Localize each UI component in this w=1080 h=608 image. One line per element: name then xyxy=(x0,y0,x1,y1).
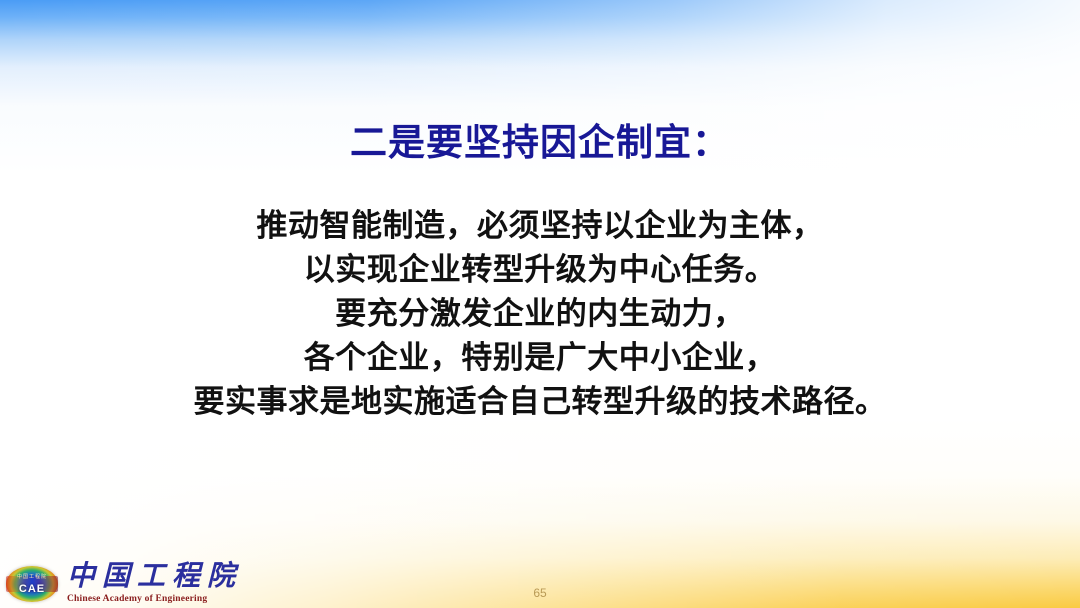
slide-title: 二是要坚持因企制宜： xyxy=(0,122,1080,165)
slide-content: 二是要坚持因企制宜： 推动智能制造，必须坚持以企业为主体， 以实现企业转型升级为… xyxy=(0,0,1080,608)
body-line-2: 以实现企业转型升级为中心任务。 xyxy=(0,248,1080,292)
emblem-micro-label: 中国工程院 xyxy=(6,574,58,580)
body-line-3: 要充分激发企业的内生动力， xyxy=(0,292,1080,336)
body-line-5: 要实事求是地实施适合自己转型升级的技术路径。 xyxy=(0,380,1080,424)
slide-body: 推动智能制造，必须坚持以企业为主体， 以实现企业转型升级为中心任务。 要充分激发… xyxy=(0,204,1080,424)
presentation-slide: 二是要坚持因企制宜： 推动智能制造，必须坚持以企业为主体， 以实现企业转型升级为… xyxy=(0,0,1080,608)
body-line-1: 推动智能制造，必须坚持以企业为主体， xyxy=(0,204,1080,248)
page-number: 65 xyxy=(0,586,1080,600)
body-line-4: 各个企业，特别是广大中小企业， xyxy=(0,336,1080,380)
